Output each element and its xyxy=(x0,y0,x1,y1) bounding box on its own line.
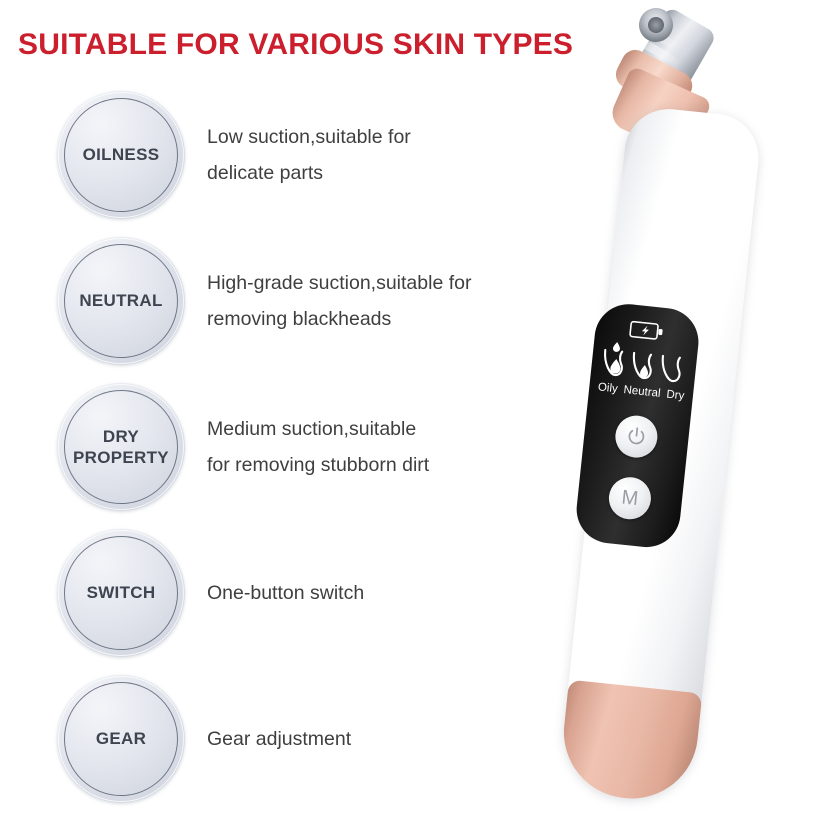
badge-label: GEAR xyxy=(96,728,146,749)
mode-button[interactable]: M xyxy=(607,475,653,521)
badge-label: SWITCH xyxy=(87,582,156,603)
feature-row: OILNESS Low suction,suitable for delicat… xyxy=(0,82,520,228)
badge-dry-property: DRY PROPERTY xyxy=(57,383,185,511)
power-icon xyxy=(625,426,647,448)
feature-description: Gear adjustment xyxy=(207,721,351,757)
mode-label-oily: Oily xyxy=(597,381,618,395)
badge-switch: SWITCH xyxy=(57,529,185,657)
pore-oily-icon xyxy=(603,341,625,376)
product-infographic: SUITABLE FOR VARIOUS SKIN TYPES OILNESS … xyxy=(0,0,823,823)
badge-label: NEUTRAL xyxy=(79,290,162,311)
badge-label: OILNESS xyxy=(83,144,160,165)
feature-row: SWITCH One-button switch xyxy=(0,520,520,666)
feature-row: GEAR Gear adjustment xyxy=(0,666,520,812)
badge-label: DRY PROPERTY xyxy=(73,426,169,469)
badge-oilness: OILNESS xyxy=(57,91,185,219)
feature-description: Medium suction,suitable for removing stu… xyxy=(207,411,429,483)
badge-gear: GEAR xyxy=(57,675,185,803)
feature-description: Low suction,suitable for delicate parts xyxy=(207,119,411,191)
product-device-image: Oily Neutral Dry M xyxy=(515,0,823,823)
pore-neutral-icon xyxy=(632,353,653,379)
mode-label-dry: Dry xyxy=(666,389,685,403)
battery-charging-icon xyxy=(629,320,665,340)
badge-neutral: NEUTRAL xyxy=(57,237,185,365)
power-button[interactable] xyxy=(613,414,659,460)
mode-button-label: M xyxy=(621,487,640,509)
pore-dry-icon xyxy=(660,356,681,382)
page-title: SUITABLE FOR VARIOUS SKIN TYPES xyxy=(18,28,573,62)
feature-description: One-button switch xyxy=(207,575,364,611)
feature-row: DRY PROPERTY Medium suction,suitable for… xyxy=(0,374,520,520)
feature-description: High-grade suction,suitable for removing… xyxy=(207,265,471,337)
device-base xyxy=(557,680,702,805)
mode-label-neutral: Neutral xyxy=(623,384,661,400)
feature-row: NEUTRAL High-grade suction,suitable for … xyxy=(0,228,520,374)
